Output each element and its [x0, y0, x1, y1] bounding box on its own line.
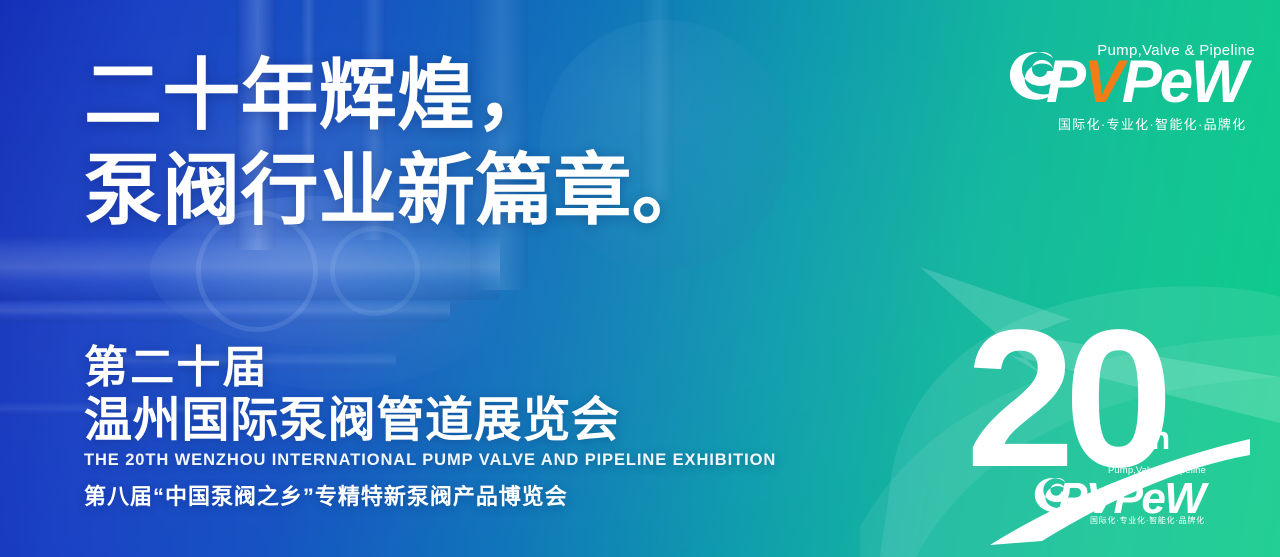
anniversary-emblem: 20 th Pump,Valve & Pipeline PVPeW 国际化·专业… — [950, 287, 1250, 549]
logo-letters-pew: PeW — [1122, 48, 1246, 115]
edition-label: 第二十届 — [84, 345, 776, 392]
pvpew-logo: Pump,Valve & Pipeline PVPeW 国际化·专业化·智能化·… — [1006, 30, 1258, 135]
headline: 二十年辉煌， 泵阀行业新篇章。 — [84, 52, 710, 235]
logo-letter-v: V — [1084, 48, 1122, 115]
exhibition-subtitle: 第八届“中国泵阀之乡”专精特新泵阀产品博览会 — [84, 479, 776, 511]
exhibition-banner: 二十年辉煌， 泵阀行业新篇章。 第二十届 温州国际泵阀管道展览会 THE 20T… — [0, 0, 1280, 557]
exhibition-name: 温州国际泵阀管道展览会 — [84, 394, 776, 448]
emblem-ordinal: th — [1140, 422, 1170, 454]
headline-line-1: 二十年辉煌， — [84, 52, 710, 139]
exhibition-title-block: 第二十届 温州国际泵阀管道展览会 THE 20TH WENZHOU INTERN… — [84, 345, 776, 511]
logo-letter-p: P — [1046, 48, 1084, 115]
emblem-letter-p: P — [1058, 474, 1086, 523]
logo-wordmark: PVPeW — [1046, 52, 1246, 112]
logo-tagline-chinese: 国际化·专业化·智能化·品牌化 — [1058, 114, 1247, 133]
emblem-tagline-chinese: 国际化·专业化·智能化·品牌化 — [1090, 515, 1205, 526]
headline-line-2: 泵阀行业新篇章。 — [84, 147, 710, 234]
exhibition-name-english: THE 20TH WENZHOU INTERNATIONAL PUMP VALV… — [84, 451, 776, 470]
